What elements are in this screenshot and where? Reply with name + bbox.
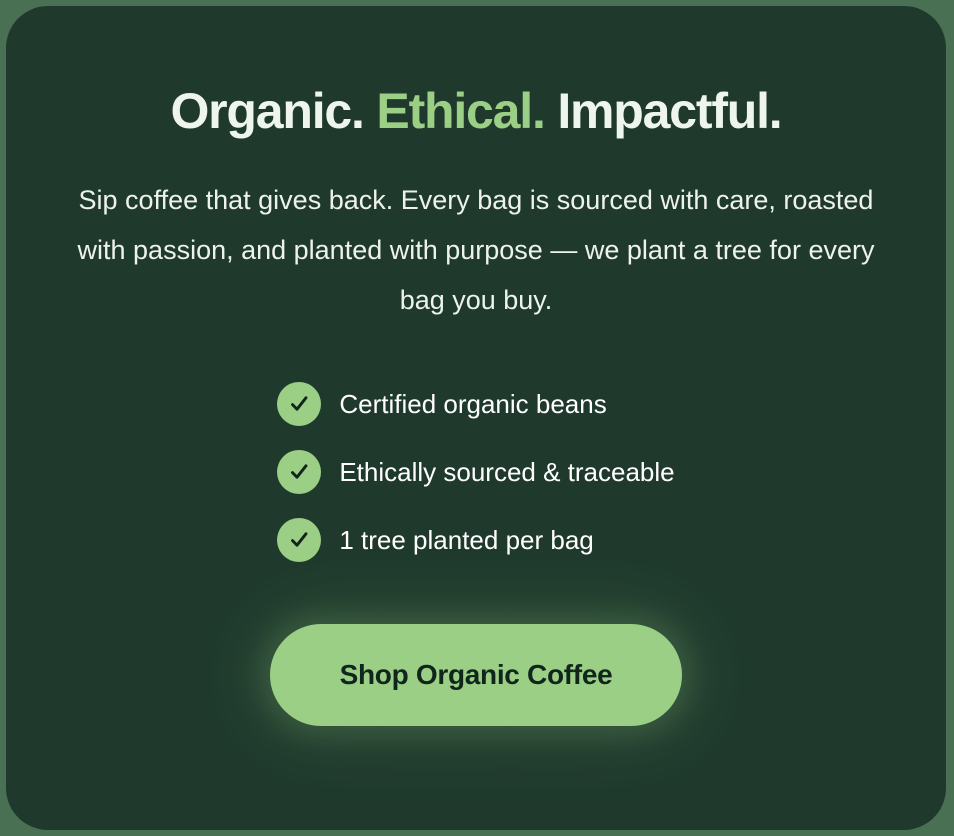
list-item: Certified organic beans <box>277 382 674 426</box>
list-item: 1 tree planted per bag <box>277 518 674 562</box>
check-icon <box>277 518 321 562</box>
promo-description: Sip coffee that gives back. Every bag is… <box>66 138 886 326</box>
check-icon <box>277 382 321 426</box>
headline-word-impactful: Impactful. <box>557 83 781 139</box>
list-item-label: 1 tree planted per bag <box>339 527 593 553</box>
promo-stage: Organic. Ethical. Impactful. Sip coffee … <box>0 0 954 836</box>
check-icon <box>277 450 321 494</box>
list-item-label: Ethically sourced & traceable <box>339 459 674 485</box>
promo-card: Organic. Ethical. Impactful. Sip coffee … <box>6 6 946 830</box>
cta-container: Shop Organic Coffee <box>270 562 682 726</box>
feature-list: Certified organic beans Ethically source… <box>277 326 674 562</box>
list-item: Ethically sourced & traceable <box>277 450 674 494</box>
list-item-label: Certified organic beans <box>339 391 606 417</box>
shop-organic-coffee-button[interactable]: Shop Organic Coffee <box>270 624 682 726</box>
headline-word-ethical: Ethical. <box>376 83 544 139</box>
page-title: Organic. Ethical. Impactful. <box>170 6 781 138</box>
headline-word-organic: Organic. <box>170 83 363 139</box>
